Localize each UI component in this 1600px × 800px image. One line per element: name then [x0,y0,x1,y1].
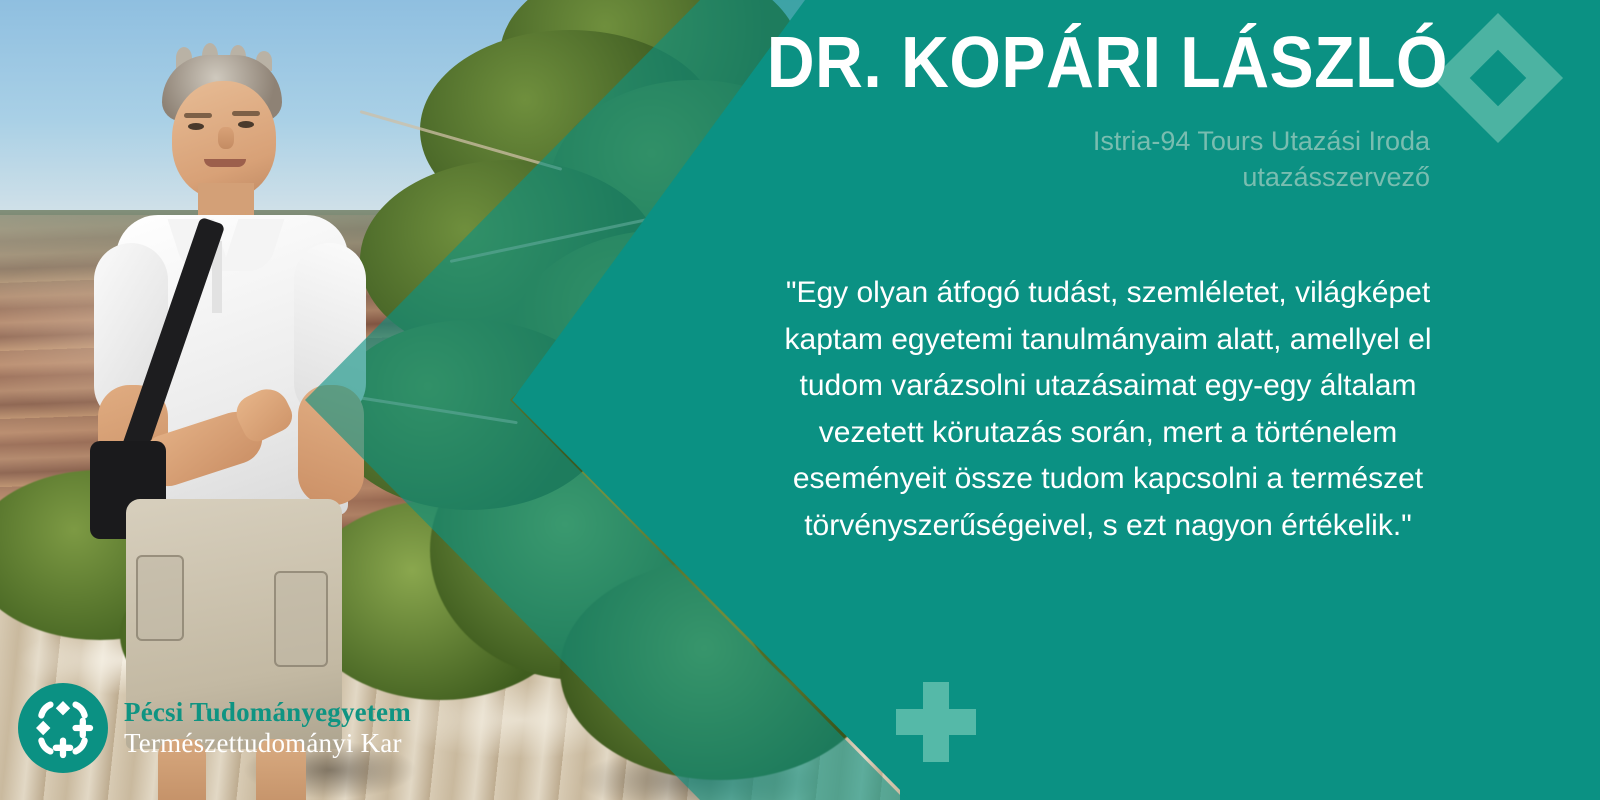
quote-line: kaptam egyetemi tanulmányaim alatt, amel… [728,317,1488,364]
logo-faculty-name: Természettudományi Kar [124,730,411,757]
testimonial-quote: "Egy olyan átfogó tudást, szemléletet, v… [728,270,1488,549]
affiliation-line-2: utazásszervező [670,160,1430,196]
plus-vertical-bar [923,682,949,762]
quote-line: "Egy olyan átfogó tudást, szemléletet, v… [728,270,1488,317]
logo-wordmark: Pécsi Tudományegyetem Természettudományi… [124,699,411,757]
pte-flower-emblem-icon [18,683,108,773]
banner-canvas: DR. KOPÁRI LÁSZLÓ Istria-94 Tours Utazás… [0,0,1600,800]
person-affiliation: Istria-94 Tours Utazási Iroda utazásszer… [670,124,1430,195]
affiliation-line-1: Istria-94 Tours Utazási Iroda [670,124,1430,160]
person-name-title: DR. KOPÁRI LÁSZLÓ [620,26,1448,101]
plus-icon [896,682,976,762]
logo-university-name: Pécsi Tudományegyetem [124,699,411,726]
quote-line: eseményeit össze tudom kapcsolni a termé… [728,456,1488,503]
quote-line: vezetett körutazás során, mert a történe… [728,410,1488,457]
quote-line: tudom varázsolni utazásaimat egy-egy ált… [728,363,1488,410]
university-logo[interactable]: Pécsi Tudományegyetem Természettudományi… [18,683,411,773]
diamond-outline-icon [1452,32,1544,124]
quote-line: törvényszerűségeivel, s ezt nagyon érték… [728,503,1488,550]
